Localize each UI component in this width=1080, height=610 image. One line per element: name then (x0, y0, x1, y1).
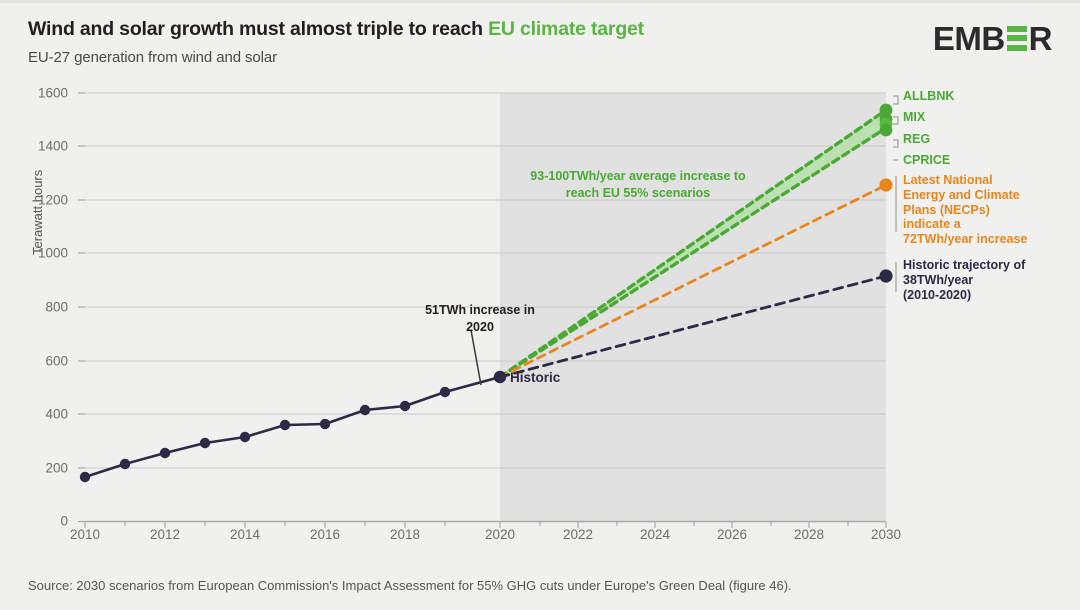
label-necp-line4: indicate a (903, 217, 1027, 232)
y-tick-1400: 1400 (8, 139, 68, 154)
y-tick-600: 600 (8, 354, 68, 369)
label-cprice: CPRICE (903, 153, 950, 168)
endpoint-necp (879, 178, 892, 191)
x-tick-2020: 2020 (470, 527, 530, 542)
x-tick-2014: 2014 (215, 527, 275, 542)
chart-page: Wind and solar growth must almost triple… (0, 0, 1080, 610)
endpoint-historic-trajectory (879, 269, 892, 282)
x-tick-2010: 2010 (55, 527, 115, 542)
label-trajectory-line2: 38TWh/year (903, 273, 1025, 288)
increase-2020-line2: 2020 (400, 319, 560, 336)
y-tick-400: 400 (8, 407, 68, 422)
increase-2020-line1: 51TWh increase in (400, 302, 560, 319)
callout-leader-line (471, 330, 481, 385)
label-necp-line1: Latest National (903, 173, 1027, 188)
y-tick-200: 200 (8, 461, 68, 476)
y-tick-1600: 1600 (8, 86, 68, 101)
x-tick-2028: 2028 (779, 527, 839, 542)
historic-series-label: Historic (510, 370, 560, 385)
x-tick-2024: 2024 (625, 527, 685, 542)
source-note: Source: 2030 scenarios from European Com… (28, 578, 792, 593)
label-allbnk: ALLBNK (903, 89, 954, 104)
scenario-increase-line1: 93-100TWh/year average increase to (508, 168, 768, 185)
increase-2020-callout: 51TWh increase in 2020 (400, 302, 560, 336)
label-historic-trajectory: Historic trajectory of 38TWh/year (2010-… (903, 258, 1025, 302)
historic-series-line (85, 377, 500, 477)
label-connectors (893, 96, 898, 292)
label-necp: Latest National Energy and Climate Plans… (903, 173, 1027, 247)
label-trajectory-line3: (2010-2020) (903, 288, 1025, 303)
x-tick-2022: 2022 (548, 527, 608, 542)
x-tick-2018: 2018 (375, 527, 435, 542)
x-tick-2012: 2012 (135, 527, 195, 542)
historic-series-markers (80, 371, 506, 482)
label-trajectory-line1: Historic trajectory of (903, 258, 1025, 273)
y-axis-ticks (78, 93, 85, 522)
scenario-increase-line2: reach EU 55% scenarios (508, 185, 768, 202)
y-tick-800: 800 (8, 300, 68, 315)
label-mix: MIX (903, 110, 925, 125)
endpoint-cprice (880, 124, 893, 137)
x-tick-2026: 2026 (702, 527, 762, 542)
label-reg: REG (903, 132, 930, 147)
label-necp-line2: Energy and Climate (903, 188, 1027, 203)
x-tick-2030: 2030 (856, 527, 916, 542)
label-necp-line5: 72TWh/year increase (903, 232, 1027, 247)
label-necp-line3: Plans (NECPs) (903, 203, 1027, 218)
y-axis-title: Terawatt hours (30, 170, 45, 255)
y-tick-1200: 1200 (8, 193, 68, 208)
x-tick-2016: 2016 (295, 527, 355, 542)
y-tick-1000: 1000 (8, 246, 68, 261)
scenario-increase-annotation: 93-100TWh/year average increase to reach… (508, 168, 768, 202)
